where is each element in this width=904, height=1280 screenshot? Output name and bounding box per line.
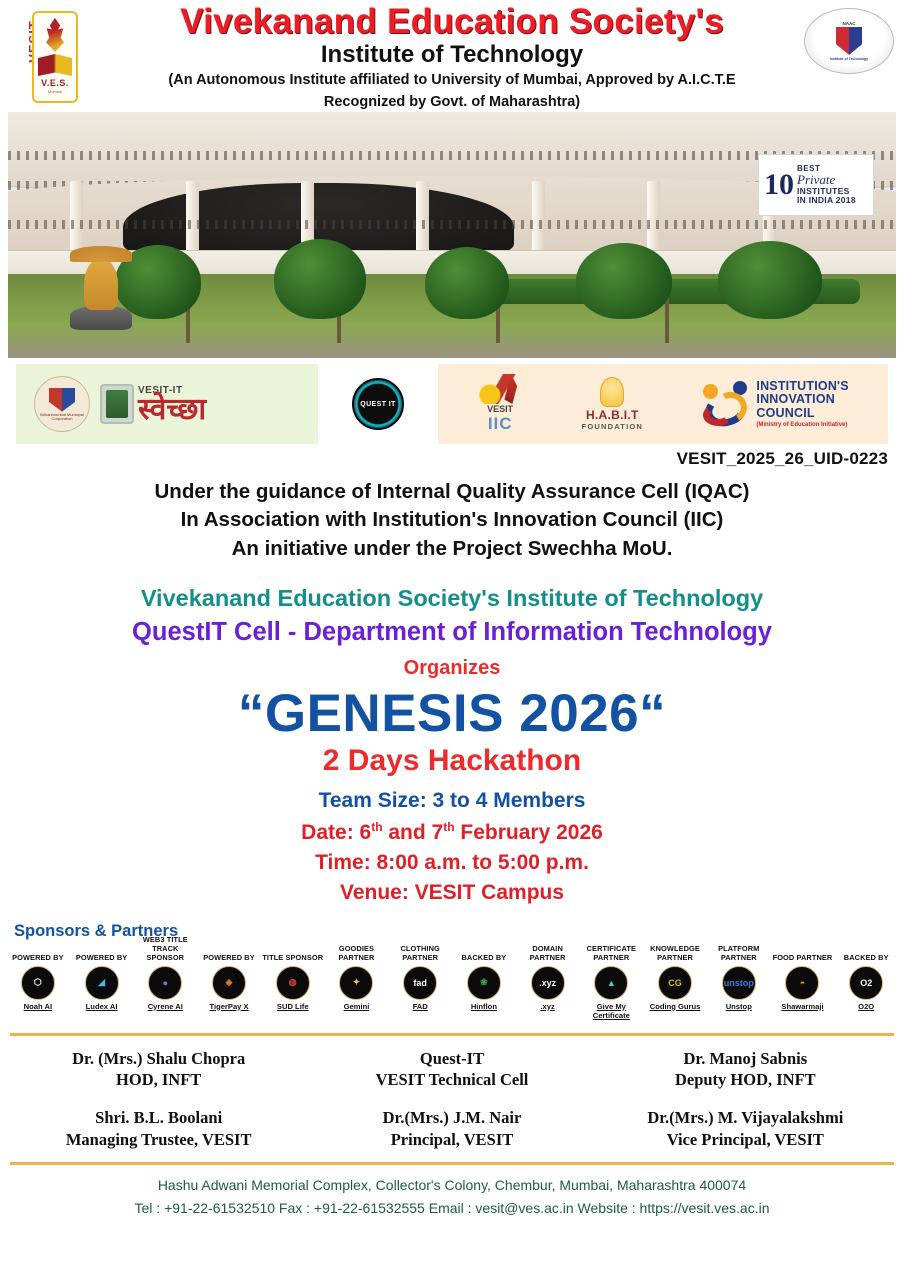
award-badge: 10 BEST Private INSTITUTES IN INDIA 2018 (758, 154, 874, 216)
innovation-council-mark-icon (701, 380, 751, 428)
habit-foundation-logo: H.A.B.I.T FOUNDATION (582, 377, 643, 431)
signoff-entry: Dr.(Mrs.) M. Vijayalakshmi Vice Principa… (599, 1107, 892, 1150)
tree (425, 247, 509, 319)
event-title: “GENESIS 2026“ (0, 684, 904, 743)
questit-logo-label: QUEST IT (360, 401, 395, 408)
vesit-iic-label: VESIT (487, 404, 513, 414)
sponsor-glyph: unstop (724, 978, 754, 988)
partner-logo-strip: Brihanmumbai Municipal Corporation VESIT… (16, 364, 888, 444)
event-time: Time: 8:00 a.m. to 5:00 p.m. (0, 848, 904, 878)
sponsor-name: .xyz (540, 1003, 554, 1012)
campus-photo: 10 BEST Private INSTITUTES IN INDIA 2018 (8, 112, 896, 358)
signoff-entry: Quest-IT VESIT Technical Cell (305, 1048, 598, 1091)
mcgm-logo-label: Brihanmumbai Municipal Corporation (39, 413, 85, 422)
sponsor-glyph: .xyz (539, 978, 556, 988)
organizes-label: Organizes (0, 657, 904, 680)
sponsor-item[interactable]: KNOWLEDGE PARTNER CG Coding Gurus (643, 943, 707, 1012)
innovation-council-logo: INSTITUTION'S INNOVATION COUNCIL (Minist… (701, 380, 848, 429)
header-text-block: Vivekanand Education Society's Institute… (0, 0, 904, 111)
sponsor-name: Hinflon (471, 1003, 497, 1012)
sponsor-glyph: CG (668, 978, 682, 988)
event-subtitle: 2 Days Hackathon (0, 744, 904, 778)
signoff-role: Vice Principal, VESIT (599, 1129, 892, 1150)
signoff-column-2: Quest-IT VESIT Technical Cell Dr.(Mrs.) … (305, 1048, 598, 1151)
council-line-2: INNOVATION (756, 393, 848, 407)
book-icon (38, 54, 72, 76)
vesit-iic-acronym: IIC (488, 414, 513, 434)
sponsor-name: Ludex AI (86, 1003, 118, 1012)
sponsor-item[interactable]: POWERED BY ◢ Ludex AI (70, 943, 134, 1012)
sponsor-role: POWERED BY (12, 943, 64, 963)
signoff-role: VESIT Technical Cell (305, 1069, 598, 1090)
window-row (8, 220, 896, 229)
organizer-cell: QuestIT Cell - Department of Information… (0, 615, 904, 649)
sponsors-row: POWERED BY ⬡ Noah AI POWERED BY ◢ Ludex … (0, 943, 904, 1021)
signoff-block: Dr. (Mrs.) Shalu Chopra HOD, INFT Shri. … (0, 1048, 904, 1151)
signoff-name: Dr.(Mrs.) M. Vijayalakshmi (599, 1107, 892, 1128)
statue-umbrella (70, 246, 132, 262)
sponsor-name: SUD Life (277, 1003, 309, 1012)
sponsor-item[interactable]: CLOTHING PARTNER fad FAD (388, 943, 452, 1012)
swechha-logo: VESIT-IT स्वेच्छा (100, 384, 206, 424)
tree (274, 239, 366, 319)
sponsor-name: Coding Gurus (650, 1003, 701, 1012)
sponsor-logo-icon: ✦ (339, 966, 373, 1000)
event-team-size: Team Size: 3 to 4 Members (0, 789, 904, 813)
sponsor-role: BACKED BY (844, 943, 889, 963)
vesit-logo: VESIT V.E.S. Mumbai (22, 4, 88, 110)
guidance-line-3: An initiative under the Project Swechha … (0, 535, 904, 563)
contact-details: Tel : +91-22-61532510 Fax : +91-22-61532… (0, 1197, 904, 1219)
signoff-name: Dr. Manoj Sabnis (599, 1048, 892, 1069)
event-date-prefix: Date: 6 (301, 821, 371, 844)
accreditation-line-1: (An Autonomous Institute affiliated to U… (0, 71, 904, 89)
guidance-line-1: Under the guidance of Internal Quality A… (0, 478, 904, 506)
signoff-name: Shri. B.L. Boolani (12, 1107, 305, 1128)
poster-header: VESIT V.E.S. Mumbai Vivekanand Education… (0, 0, 904, 112)
sponsor-logo-icon: CG (658, 966, 692, 1000)
sponsor-glyph: ❀ (480, 977, 488, 988)
sponsor-glyph: O2 (860, 978, 872, 988)
sponsor-logo-icon: ⬡ (21, 966, 55, 1000)
sponsor-name: Noah AI (24, 1003, 52, 1012)
sponsor-glyph: ◈ (226, 977, 233, 988)
divider-top (10, 1033, 894, 1036)
sponsor-item[interactable]: FOOD PARTNER ◓ Shawarmaji (771, 943, 835, 1012)
sponsor-role: CLOTHING PARTNER (388, 943, 452, 963)
tablet-screen-icon (106, 390, 128, 418)
partner-strip-right: VESIT IIC H.A.B.I.T FOUNDATION INSTITUTI… (438, 364, 888, 444)
partner-strip-left: Brihanmumbai Municipal Corporation VESIT… (16, 364, 318, 444)
sponsor-role: TITLE SPONSOR (262, 943, 323, 963)
sponsor-glyph: ▲ (607, 978, 616, 988)
partner-strip-gap: QUEST IT (318, 364, 438, 444)
sponsor-glyph: fad (413, 978, 427, 988)
sponsor-name: Cyrene AI (148, 1003, 183, 1012)
sponsor-name: Gemini (344, 1003, 370, 1012)
sponsor-name: Give My Certificate (579, 1003, 643, 1021)
award-private-label: Private (797, 173, 856, 187)
naac-logo: NAAC Institute of Technology (804, 8, 894, 74)
flame-icon (42, 18, 68, 52)
sponsor-name: FAD (413, 1003, 428, 1012)
signoff-role: Managing Trustee, VESIT (12, 1129, 305, 1150)
sponsor-item[interactable]: POWERED BY ⬡ Noah AI (6, 943, 70, 1012)
sponsor-role: POWERED BY (76, 943, 128, 963)
naac-logo-top-text: NAAC (843, 21, 856, 26)
signoff-name: Dr.(Mrs.) J.M. Nair (305, 1107, 598, 1128)
council-ministry-note: (Ministry of Education Initiative) (756, 422, 848, 428)
sponsor-glyph: ◢ (98, 977, 105, 988)
vesit-logo-badge: V.E.S. Mumbai (32, 11, 78, 103)
sponsor-glyph: ⬡ (34, 977, 42, 988)
event-date-sup-2: th (443, 820, 454, 834)
contact-block: Hashu Adwani Memorial Complex, Collector… (0, 1174, 904, 1219)
sponsor-role: POWERED BY (203, 943, 255, 963)
signoff-entry: Dr. Manoj Sabnis Deputy HOD, INFT (599, 1048, 892, 1091)
tree (576, 243, 672, 319)
signoff-entry: Dr.(Mrs.) J.M. Nair Principal, VESIT (305, 1107, 598, 1150)
sponsor-item[interactable]: TITLE SPONSOR ◍ SUD Life (261, 943, 325, 1012)
sponsor-logo-icon: ❀ (467, 966, 501, 1000)
event-block: Vivekanand Education Society's Institute… (0, 583, 904, 908)
award-rank-number: 10 (764, 173, 794, 197)
sponsor-glyph: ✦ (353, 977, 361, 988)
naac-logo-bottom-text: Institute of Technology (830, 57, 868, 61)
sponsor-logo-icon: fad (403, 966, 437, 1000)
accreditation-line-2: Recognized by Govt. of Maharashtra) (0, 93, 904, 111)
sponsor-role: PLATFORM PARTNER (707, 943, 771, 963)
divider-bottom (10, 1162, 894, 1165)
sponsor-name: Shawarmaji (781, 1003, 823, 1012)
event-venue: Venue: VESIT Campus (0, 878, 904, 908)
sponsor-item[interactable]: BACKED BY ❀ Hinflon (452, 943, 516, 1012)
sponsor-role: CERTIFICATE PARTNER (579, 943, 643, 963)
guidance-line-2: In Association with Institution's Innova… (0, 506, 904, 534)
sponsor-item[interactable]: POWERED BY ◈ TigerPay X (197, 943, 261, 1012)
crest-icon (49, 388, 75, 412)
event-date: Date: 6th and 7th February 2026 (0, 818, 904, 848)
sponsor-item[interactable]: GOODIES PARTNER ✦ Gemini (325, 943, 389, 1012)
sponsor-logo-icon: ▲ (594, 966, 628, 1000)
sponsor-glyph: ● (163, 978, 168, 988)
sponsor-role: WEB3 TITLE TRACK SPONSOR (133, 943, 197, 963)
signoff-role: Deputy HOD, INFT (599, 1069, 892, 1090)
signoff-entry: Dr. (Mrs.) Shalu Chopra HOD, INFT (12, 1048, 305, 1091)
sponsor-item[interactable]: PLATFORM PARTNER unstop Unstop (707, 943, 771, 1012)
sponsor-role: KNOWLEDGE PARTNER (643, 943, 707, 963)
organizer-institute: Vivekanand Education Society's Institute… (0, 583, 904, 614)
sponsor-name: O2O (858, 1003, 874, 1012)
sponsor-glyph: ◍ (289, 977, 297, 988)
guidance-block: Under the guidance of Internal Quality A… (0, 478, 904, 563)
tablet-icon (100, 384, 134, 424)
sponsor-logo-icon: ◓ (785, 966, 819, 1000)
council-line-3: COUNCIL (756, 407, 848, 421)
sun-flame-icon (477, 374, 523, 404)
signoff-column-3: Dr. Manoj Sabnis Deputy HOD, INFT Dr.(Mr… (599, 1048, 892, 1151)
vesit-logo-subtext: Mumbai (48, 89, 62, 94)
sponsor-role: DOMAIN PARTNER (516, 943, 580, 963)
sponsor-item[interactable]: CERTIFICATE PARTNER ▲ Give My Certificat… (579, 943, 643, 1021)
institute-name: Institute of Technology (0, 42, 904, 67)
sponsor-item[interactable]: DOMAIN PARTNER .xyz .xyz (516, 943, 580, 1012)
buddha-statue (84, 258, 118, 310)
sponsor-logo-icon: ◢ (85, 966, 119, 1000)
sponsor-logo-icon: .xyz (531, 966, 565, 1000)
vesit-iic-logo: VESIT IIC (477, 374, 523, 434)
sponsor-logo-icon: ◈ (212, 966, 246, 1000)
sponsor-role: FOOD PARTNER (773, 943, 833, 963)
habit-title: H.A.B.I.T (586, 408, 639, 422)
event-date-sup-1: th (371, 820, 382, 834)
questit-logo: QUEST IT (352, 378, 404, 430)
sponsor-glyph: ◓ (800, 978, 805, 988)
document-uid: VESIT_2025_26_UID-0223 (0, 449, 904, 469)
signoff-name: Dr. (Mrs.) Shalu Chopra (12, 1048, 305, 1069)
contact-address: Hashu Adwani Memorial Complex, Collector… (0, 1174, 904, 1196)
lightbulb-icon (600, 377, 624, 407)
signoff-role: HOD, INFT (12, 1069, 305, 1090)
mcgm-logo: Brihanmumbai Municipal Corporation (34, 376, 90, 432)
council-line-1: INSTITUTION'S (756, 380, 848, 394)
sponsor-name: Unstop (726, 1003, 752, 1012)
event-date-suffix: February 2026 (455, 821, 603, 844)
sponsor-logo-icon: ● (148, 966, 182, 1000)
tree (718, 241, 822, 319)
swechha-title: स्वेच्छा (138, 396, 206, 423)
event-date-middle: and 7 (383, 821, 444, 844)
signoff-role: Principal, VESIT (305, 1129, 598, 1150)
sponsor-logo-icon: unstop (722, 966, 756, 1000)
sponsor-logo-icon: O2 (849, 966, 883, 1000)
society-name: Vivekanand Education Society's (0, 4, 904, 40)
award-country-year-label: IN INDIA 2018 (797, 196, 856, 205)
sponsor-item[interactable]: WEB3 TITLE TRACK SPONSOR ● Cyrene AI (133, 943, 197, 1012)
vesit-logo-text: V.E.S. (41, 78, 69, 88)
flame-icon (501, 374, 517, 404)
signoff-entry: Shri. B.L. Boolani Managing Trustee, VES… (12, 1107, 305, 1150)
sponsor-logo-icon: ◍ (276, 966, 310, 1000)
signoff-name: Quest-IT (305, 1048, 598, 1069)
sponsor-role: BACKED BY (461, 943, 506, 963)
sponsor-item[interactable]: BACKED BY O2 O2O (834, 943, 898, 1012)
habit-subtitle: FOUNDATION (582, 422, 643, 431)
sponsor-role: GOODIES PARTNER (325, 943, 389, 963)
sponsor-name: TigerPay X (209, 1003, 248, 1012)
signoff-column-1: Dr. (Mrs.) Shalu Chopra HOD, INFT Shri. … (12, 1048, 305, 1151)
shield-icon (836, 27, 862, 55)
